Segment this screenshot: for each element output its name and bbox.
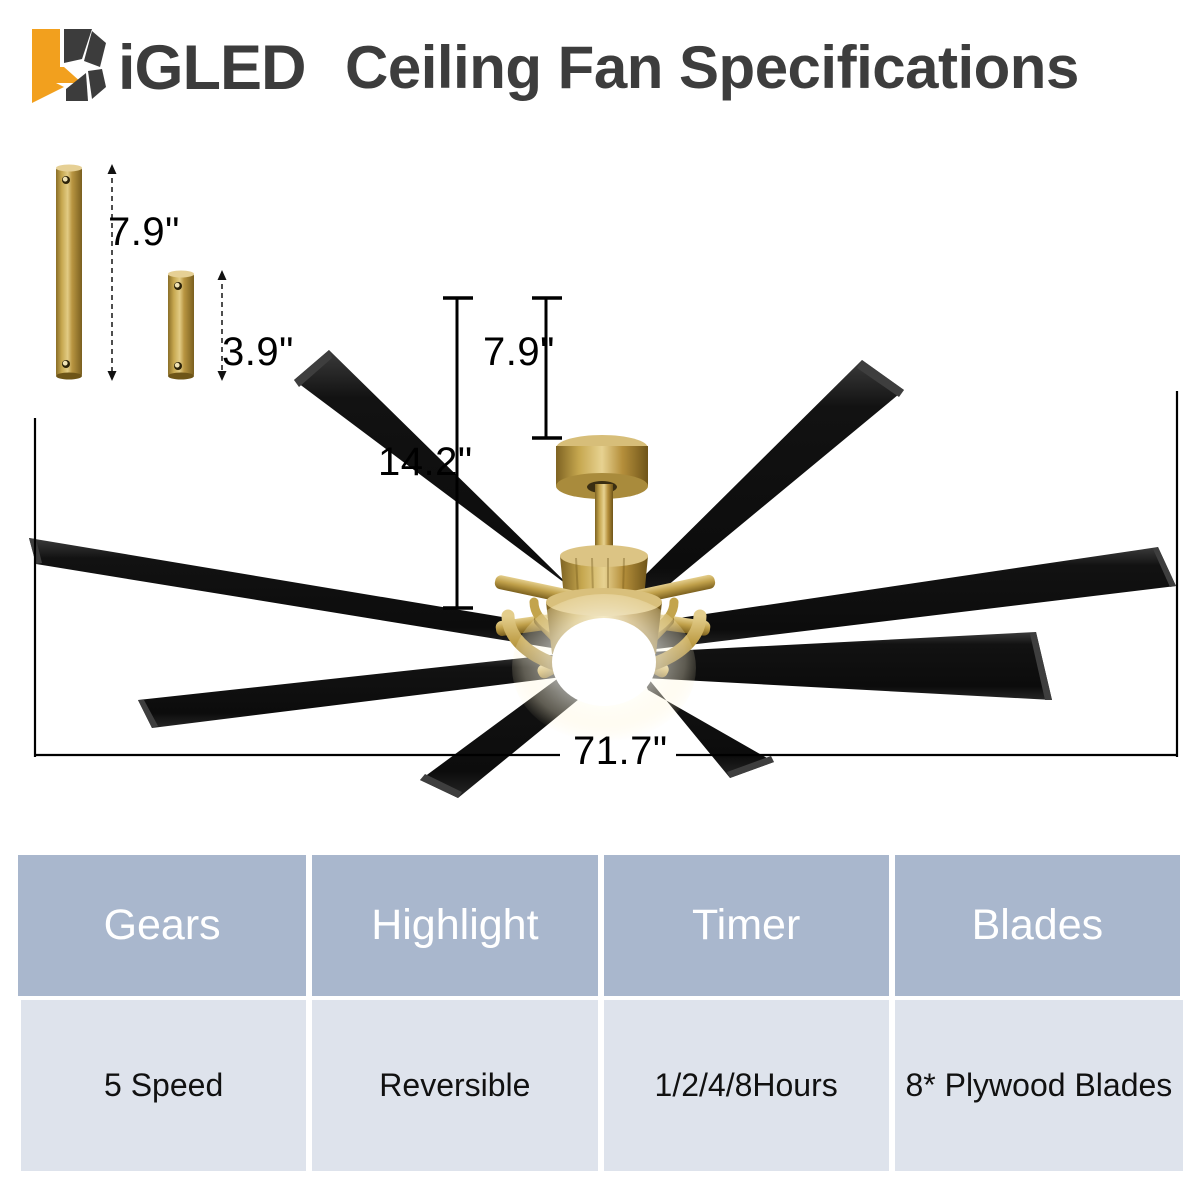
table-cell-blades: 8* Plywood Blades: [892, 1000, 1183, 1171]
specifications-table: Gears Highlight Timer Blades 5 Speed Rev…: [18, 855, 1183, 1171]
brand-wordmark: iGLED: [118, 34, 306, 102]
specification-sheet: iGLED Ceiling Fan Specifications: [0, 0, 1200, 1200]
dimension-line-blade-span: [0, 125, 1200, 825]
table-cell-timer: 1/2/4/8Hours: [601, 1000, 892, 1171]
aperture-logo-icon: [30, 27, 122, 105]
table-header-timer: Timer: [601, 855, 892, 1000]
dimension-label-blade-span: 71.7": [573, 729, 668, 774]
table-header-highlight: Highlight: [309, 855, 600, 1000]
table-cell-highlight: Reversible: [309, 1000, 600, 1171]
table-cell-gears: 5 Speed: [18, 1000, 309, 1171]
page-title: Ceiling Fan Specifications: [345, 35, 1079, 101]
table-header-blades: Blades: [892, 855, 1183, 1000]
fan-diagram: 7.9" 3.9": [0, 125, 1200, 825]
page-header: iGLED Ceiling Fan Specifications: [0, 0, 1200, 125]
table-header-gears: Gears: [18, 855, 309, 1000]
